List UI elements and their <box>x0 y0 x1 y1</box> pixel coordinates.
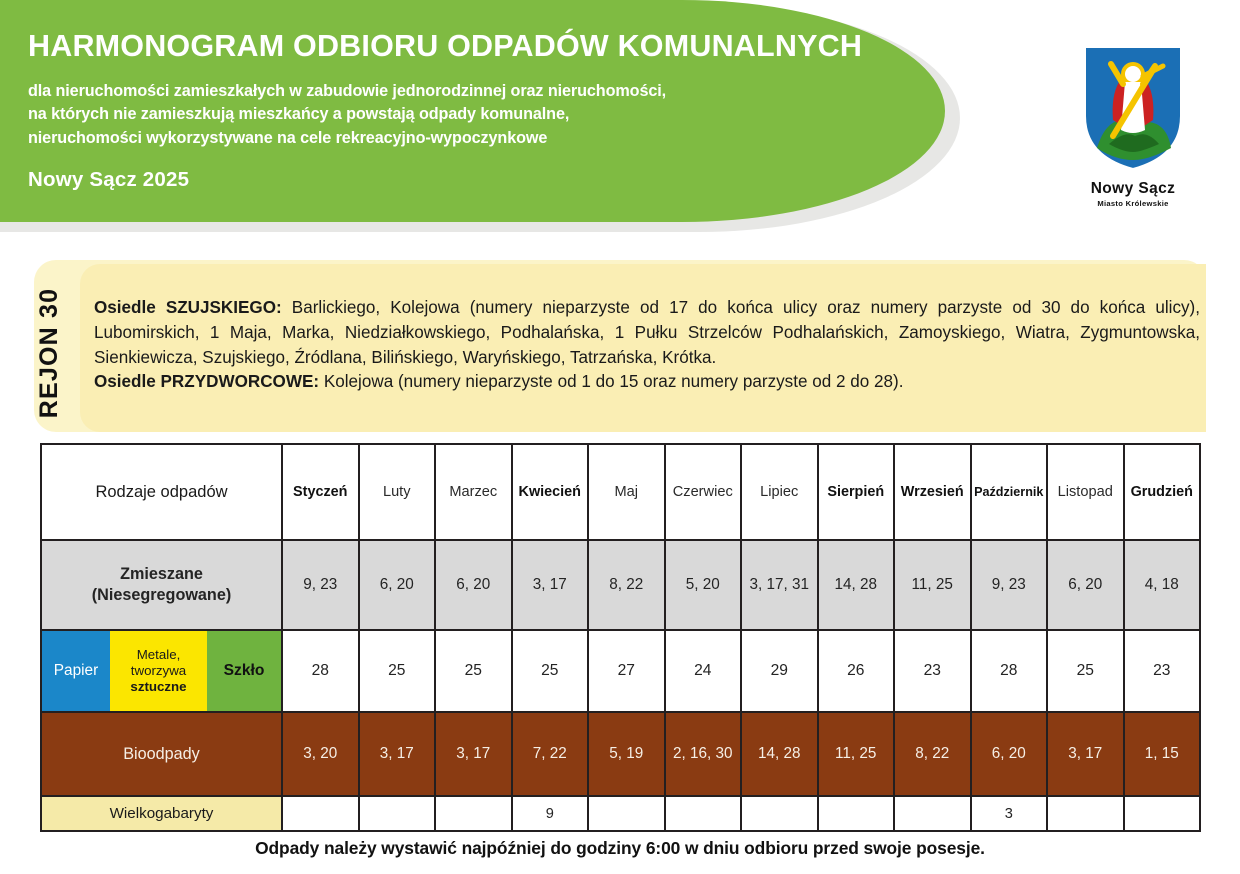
estate-szujskiego-name: Osiedle SZUJSKIEGO: <box>94 298 282 317</box>
mixed-oct: 9, 23 <box>971 540 1048 630</box>
month-header-czerwiec: Czerwiec <box>665 444 742 540</box>
subtitle-line-3: nieruchomości wykorzystywane na cele rek… <box>28 127 928 151</box>
row-label-bulky: Wielkogabaryty <box>41 796 282 831</box>
bio-mar: 3, 17 <box>435 712 512 796</box>
mixed-sep: 11, 25 <box>894 540 971 630</box>
subtitle-line-2: na których nie zamieszkują mieszkańcy a … <box>28 103 928 127</box>
bio-apr: 7, 22 <box>512 712 589 796</box>
segregated-jan: 28 <box>282 630 359 712</box>
crest-motto: Miasto Królewskie <box>1068 199 1198 208</box>
bulky-jul <box>741 796 818 831</box>
table-row-mixed-waste: Zmieszane (Niesegregowane) 9, 23 6, 20 6… <box>41 540 1200 630</box>
month-header-styczen: Styczeń <box>282 444 359 540</box>
coat-of-arms: Nowy Sącz Miasto Królewskie <box>1068 44 1198 208</box>
estate-przydworcowe-name: Osiedle PRZYDWORCOWE: <box>94 372 319 391</box>
month-header-pazdziernik: Październik <box>971 444 1048 540</box>
row-label-bio: Bioodpady <box>41 712 282 796</box>
table-header-row: Rodzaje odpadów Styczeń Luty Marzec Kwie… <box>41 444 1200 540</box>
bulky-sep <box>894 796 971 831</box>
region-streets-description: Osiedle SZUJSKIEGO: Barlickiego, Kolejow… <box>94 296 1200 395</box>
bio-jul: 14, 28 <box>741 712 818 796</box>
city-year-label: Nowy Sącz 2025 <box>28 168 928 192</box>
bio-may: 5, 19 <box>588 712 665 796</box>
bio-sep: 8, 22 <box>894 712 971 796</box>
bulky-may <box>588 796 665 831</box>
subtitle-line-1: dla nieruchomości zamieszkałych w zabudo… <box>28 80 928 104</box>
segregated-color-strips: Papier Metale, tworzywa sztuczne Szkło <box>42 631 281 711</box>
month-header-maj: Maj <box>588 444 665 540</box>
row-label-mixed: Zmieszane (Niesegregowane) <box>41 540 282 630</box>
mixed-apr: 3, 17 <box>512 540 589 630</box>
segregated-mar: 25 <box>435 630 512 712</box>
month-header-marzec: Marzec <box>435 444 512 540</box>
segregated-may: 27 <box>588 630 665 712</box>
bulky-nov <box>1047 796 1124 831</box>
mixed-feb: 6, 20 <box>359 540 436 630</box>
region-number-label: REJON 30 <box>29 278 69 428</box>
bio-dec: 1, 15 <box>1124 712 1201 796</box>
crest-shield-icon <box>1079 44 1187 172</box>
row-label-mixed-line2: (Niesegregowane) <box>42 585 281 606</box>
fraction-metale-line1: Metale, <box>130 647 186 663</box>
table-row-bio-waste: Bioodpady 3, 20 3, 17 3, 17 7, 22 5, 19 … <box>41 712 1200 796</box>
segregated-aug: 26 <box>818 630 895 712</box>
fraction-metale-line2: tworzywa <box>130 663 186 679</box>
mixed-jan: 9, 23 <box>282 540 359 630</box>
bio-aug: 11, 25 <box>818 712 895 796</box>
month-header-listopad: Listopad <box>1047 444 1124 540</box>
bio-feb: 3, 17 <box>359 712 436 796</box>
collection-schedule-table: Rodzaje odpadów Styczeń Luty Marzec Kwie… <box>40 443 1201 832</box>
mixed-jun: 5, 20 <box>665 540 742 630</box>
estate-przydworcowe-streets: Kolejowa (numery nieparzyste od 1 do 15 … <box>319 372 903 391</box>
mixed-mar: 6, 20 <box>435 540 512 630</box>
fraction-metale-label: Metale, tworzywa sztuczne <box>110 631 207 711</box>
fraction-szklo-label: Szkło <box>207 631 281 711</box>
table-row-segregated-waste: Papier Metale, tworzywa sztuczne Szkło 2… <box>41 630 1200 712</box>
segregated-jul: 29 <box>741 630 818 712</box>
mixed-aug: 14, 28 <box>818 540 895 630</box>
fraction-papier-label: Papier <box>42 631 110 711</box>
bulky-jun <box>665 796 742 831</box>
bio-nov: 3, 17 <box>1047 712 1124 796</box>
month-header-kwiecien: Kwiecień <box>512 444 589 540</box>
segregated-sep: 23 <box>894 630 971 712</box>
bulky-jan <box>282 796 359 831</box>
segregated-dec: 23 <box>1124 630 1201 712</box>
month-header-lipiec: Lipiec <box>741 444 818 540</box>
bio-oct: 6, 20 <box>971 712 1048 796</box>
crest-city-name: Nowy Sącz <box>1068 180 1198 198</box>
segregated-nov: 25 <box>1047 630 1124 712</box>
month-header-grudzien: Grudzień <box>1124 444 1201 540</box>
bulky-mar <box>435 796 512 831</box>
mixed-dec: 4, 18 <box>1124 540 1201 630</box>
mixed-may: 8, 22 <box>588 540 665 630</box>
page-title: HARMONOGRAM ODBIORU ODPADÓW KOMUNALNYCH <box>28 30 928 64</box>
header-banner: HARMONOGRAM ODBIORU ODPADÓW KOMUNALNYCH … <box>0 0 1240 238</box>
footer-instruction: Odpady należy wystawić najpóźniej do god… <box>0 838 1240 859</box>
row-label-mixed-line1: Zmieszane <box>42 564 281 585</box>
estate-przydworcowe-paragraph: Osiedle PRZYDWORCOWE: Kolejowa (numery n… <box>94 370 1200 395</box>
bulky-apr: 9 <box>512 796 589 831</box>
fraction-metale-line3: sztuczne <box>130 679 186 694</box>
bulky-dec <box>1124 796 1201 831</box>
header-subtitle: dla nieruchomości zamieszkałych w zabudo… <box>28 80 928 151</box>
bio-jun: 2, 16, 30 <box>665 712 742 796</box>
month-header-luty: Luty <box>359 444 436 540</box>
bio-jan: 3, 20 <box>282 712 359 796</box>
segregated-jun: 24 <box>665 630 742 712</box>
segregated-feb: 25 <box>359 630 436 712</box>
bulky-feb <box>359 796 436 831</box>
estate-szujskiego-paragraph: Osiedle SZUJSKIEGO: Barlickiego, Kolejow… <box>94 296 1200 370</box>
row-label-segregated: Papier Metale, tworzywa sztuczne Szkło <box>41 630 282 712</box>
segregated-apr: 25 <box>512 630 589 712</box>
month-header-sierpien: Sierpień <box>818 444 895 540</box>
header-text-block: HARMONOGRAM ODBIORU ODPADÓW KOMUNALNYCH … <box>28 20 928 192</box>
bulky-aug <box>818 796 895 831</box>
segregated-oct: 28 <box>971 630 1048 712</box>
table-row-bulky-waste: Wielkogabaryty 9 3 <box>41 796 1200 831</box>
mixed-jul: 3, 17, 31 <box>741 540 818 630</box>
month-header-wrzesien: Wrzesień <box>894 444 971 540</box>
waste-types-header: Rodzaje odpadów <box>41 444 282 540</box>
bulky-oct: 3 <box>971 796 1048 831</box>
mixed-nov: 6, 20 <box>1047 540 1124 630</box>
